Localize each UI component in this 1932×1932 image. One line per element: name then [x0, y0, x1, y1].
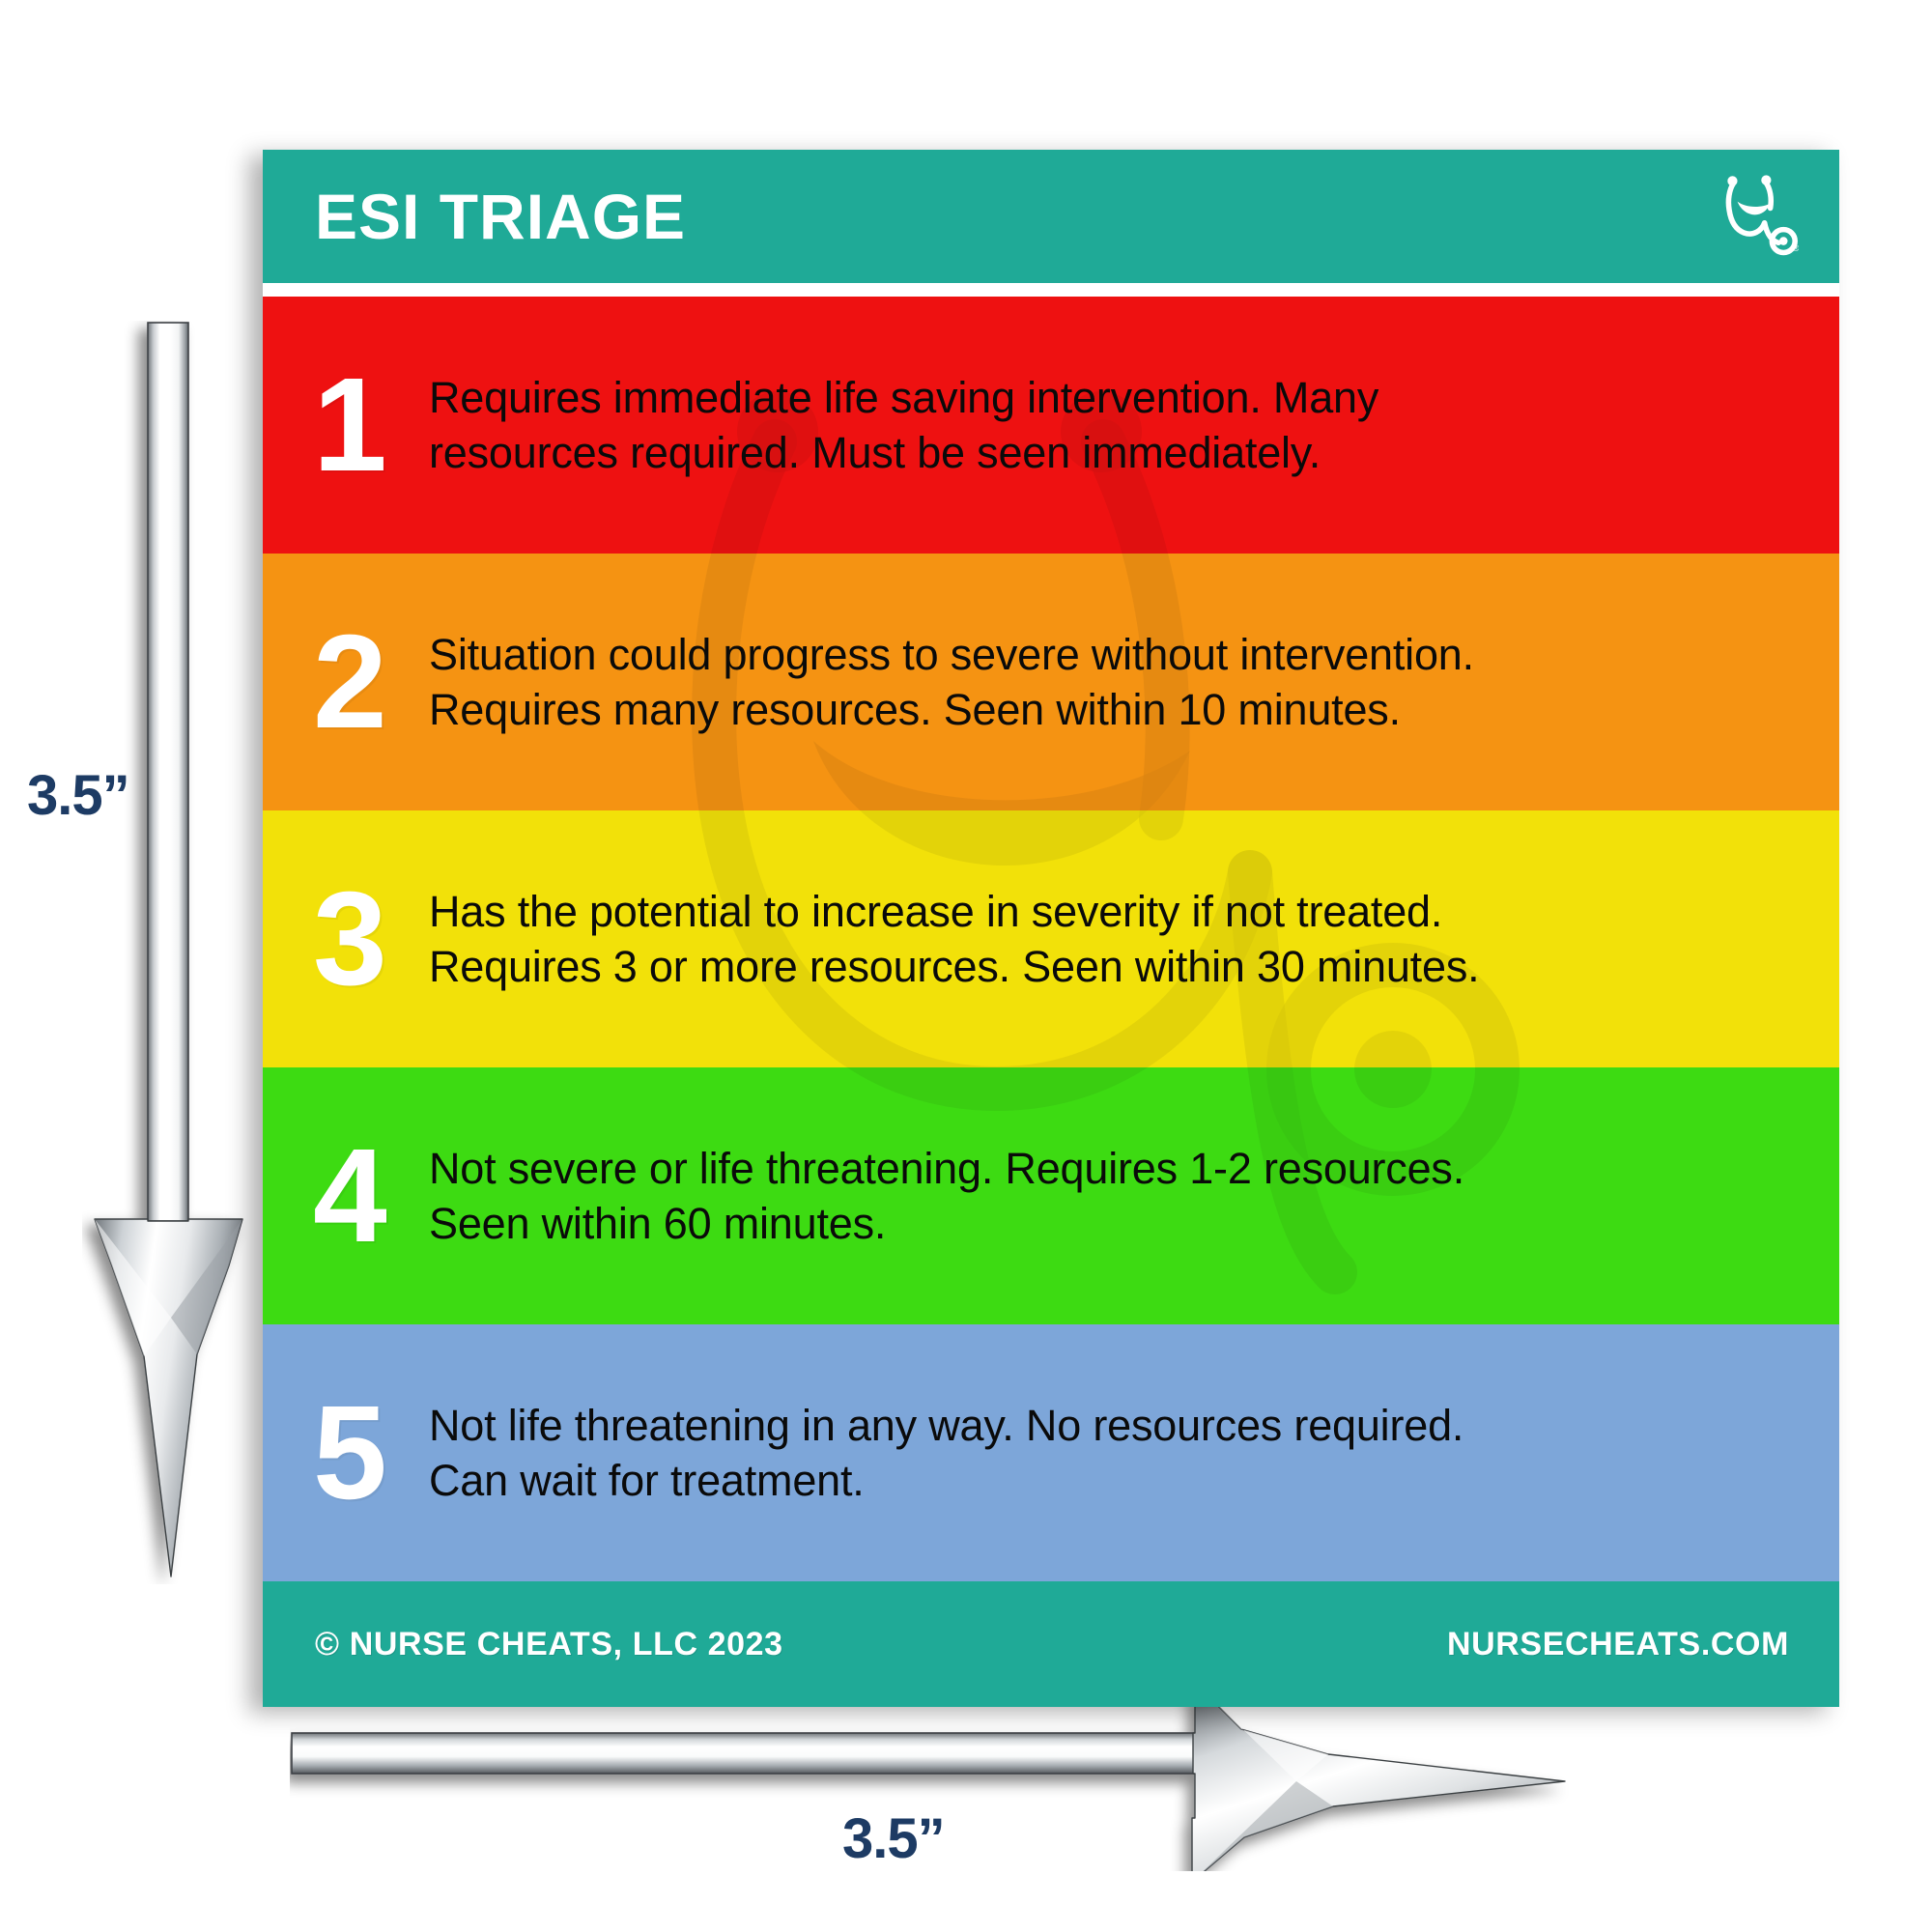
level-description: Not severe or life threatening. Requires… [429, 1141, 1810, 1251]
level-description-line: Not severe or life threatening. Requires… [429, 1141, 1810, 1196]
level-number: 3 [313, 878, 429, 1001]
level-description: Not life threatening in any way. No reso… [429, 1398, 1810, 1508]
list-item: 1 Requires immediate life saving interve… [263, 297, 1839, 554]
page-title: ESI TRIAGE [315, 185, 686, 248]
list-item: 5 Not life threatening in any way. No re… [263, 1324, 1839, 1581]
list-item: 4 Not severe or life threatening. Requir… [263, 1067, 1839, 1324]
level-description-line: resources required. Must be seen immedia… [429, 425, 1810, 480]
poster-canvas: 3.5” [0, 0, 1932, 1932]
level-description-line: Requires many resources. Seen within 10 … [429, 682, 1810, 737]
level-number: 4 [313, 1135, 429, 1258]
level-description-line: Situation could progress to severe witho… [429, 627, 1810, 682]
triage-levels-list: 1 Requires immediate life saving interve… [263, 297, 1839, 1581]
level-description: Has the potential to increase in severit… [429, 884, 1810, 994]
level-description-line: Requires 3 or more resources. Seen withi… [429, 939, 1810, 994]
website-link[interactable]: NURSECHEATS.COM [1447, 1626, 1789, 1663]
level-description: Requires immediate life saving intervent… [429, 370, 1810, 480]
level-description-line: Seen within 60 minutes. [429, 1196, 1810, 1251]
copyright-text: © NURSE CHEATS, LLC 2023 [315, 1626, 783, 1663]
width-dimension-label: 3.5” [842, 1806, 945, 1871]
level-number: 1 [313, 364, 429, 487]
card-header: ESI TRIAGE ® [263, 150, 1839, 283]
level-description-line: Has the potential to increase in severit… [429, 884, 1810, 939]
height-dimension-label: 3.5” [27, 763, 129, 828]
level-number: 5 [313, 1392, 429, 1515]
level-description-line: Can wait for treatment. [429, 1453, 1810, 1508]
down-arrow-icon [82, 321, 246, 1584]
level-description-line: Not life threatening in any way. No reso… [429, 1398, 1810, 1453]
list-item: 2 Situation could progress to severe wit… [263, 554, 1839, 810]
esi-triage-card: ESI TRIAGE ® [263, 150, 1839, 1707]
list-item: 3 Has the potential to increase in sever… [263, 810, 1839, 1067]
card-footer: © NURSE CHEATS, LLC 2023 NURSECHEATS.COM [263, 1581, 1839, 1707]
level-number: 2 [313, 621, 429, 744]
level-description: Situation could progress to severe witho… [429, 627, 1810, 737]
svg-text:®: ® [1793, 243, 1799, 253]
level-description-line: Requires immediate life saving intervent… [429, 370, 1810, 425]
stethoscope-smiley-icon: ® [1716, 172, 1799, 261]
